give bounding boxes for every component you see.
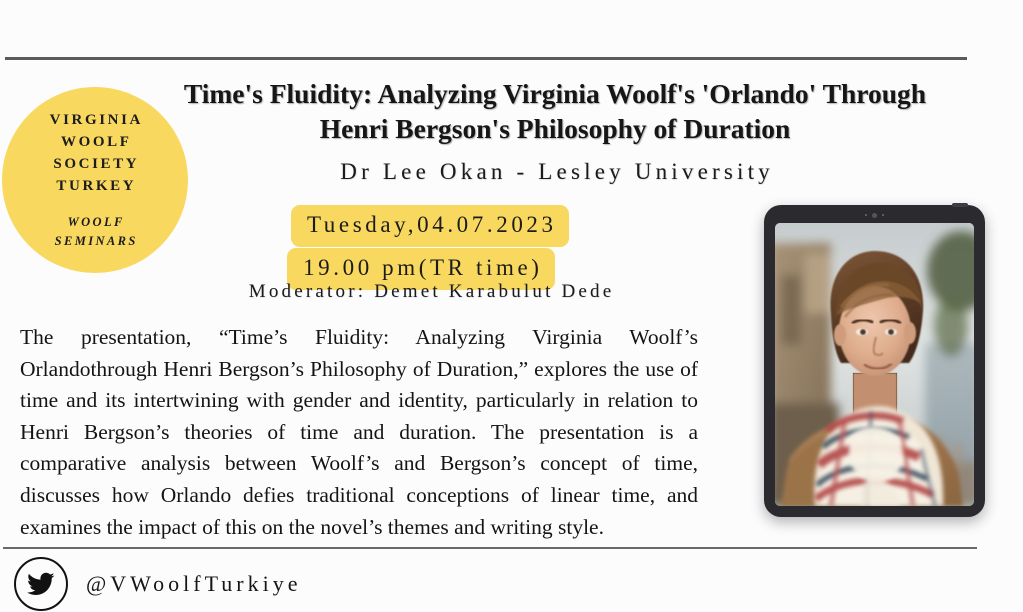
logo-main-text: VIRGINIA WOOLF SOCIETY TURKEY: [47, 109, 143, 198]
logo-sub-line-2: SEMINARS: [52, 232, 138, 251]
social-footer[interactable]: @VWoolfTurkiye: [14, 557, 301, 611]
tablet-camera: [764, 210, 985, 220]
logo-line-2: WOOLF: [47, 131, 143, 153]
moderator-line: Moderator: Demet Karabulut Dede: [150, 281, 710, 303]
speaker-portrait-photo: [775, 223, 974, 506]
tablet-power-button: [952, 203, 968, 207]
logo-line-4: TURKEY: [47, 175, 143, 197]
title-line-2: Henri Bergson's Philosophy of Duration: [150, 111, 960, 146]
twitter-bird-icon[interactable]: [14, 557, 68, 611]
speaker-name: Dr Lee Okan - Lesley University: [150, 159, 960, 185]
event-datetime: Tuesday,04.07.2023 19.00 pm(TR time): [150, 205, 710, 291]
logo-line-3: SOCIETY: [47, 153, 143, 175]
logo-sub-line-1: WOOLF: [52, 213, 138, 232]
abstract-paragraph: The presentation, “Time’s Fluidity: Anal…: [20, 322, 698, 543]
camera-lens-icon: [872, 213, 877, 218]
bottom-divider-rule: [3, 547, 977, 549]
seminar-poster: VIRGINIA WOOLF SOCIETY TURKEY WOOLF SEMI…: [0, 0, 1023, 612]
tablet-device: [764, 205, 985, 517]
title-line-1: Time's Fluidity: Analyzing Virginia Wool…: [150, 76, 960, 111]
logo-line-1: VIRGINIA: [47, 109, 143, 131]
page-title: Time's Fluidity: Analyzing Virginia Wool…: [150, 76, 960, 146]
logo-sub-text: WOOLF SEMINARS: [52, 213, 138, 252]
twitter-handle[interactable]: @VWoolfTurkiye: [82, 571, 301, 597]
tablet-screen: [775, 223, 974, 506]
top-divider-rule: [5, 57, 967, 60]
event-date: Tuesday,04.07.2023: [291, 205, 568, 247]
camera-dot-left: [865, 214, 867, 216]
camera-dot-right: [882, 214, 884, 216]
